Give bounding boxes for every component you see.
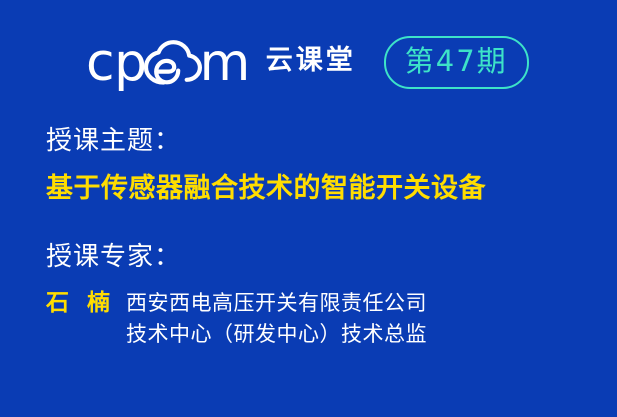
expert-label: 授课专家：: [46, 240, 617, 274]
brand-subtitle: 云课堂: [266, 46, 356, 76]
topic-label: 授课主题：: [46, 124, 486, 158]
cpem-logo: cp m: [86, 38, 250, 86]
course-announcement-poster: cp m 云课堂 第47期 授课主题： 基于传感器融合技术的智能开关设备 授课专: [0, 0, 617, 417]
poster-header: cp m 云课堂 第47期: [0, 34, 617, 90]
expert-row: 石 楠 西安西电高压开关有限责任公司 技术中心（研发中心）技术总监: [46, 288, 617, 350]
expert-affiliation-line-2: 技术中心（研发中心）技术总监: [126, 322, 427, 346]
logo-text-cp: cp: [86, 40, 147, 86]
expert-name: 石 楠: [46, 288, 126, 319]
cloud-e-icon: [143, 40, 203, 86]
expert-block: 授课专家： 石 楠 西安西电高压开关有限责任公司 技术中心（研发中心）技术总监: [46, 240, 617, 350]
topic-title: 基于传感器融合技术的智能开关设备: [46, 172, 486, 206]
episode-badge: 第47期: [384, 36, 529, 89]
logo-text-m: m: [200, 40, 250, 86]
expert-affiliation: 西安西电高压开关有限责任公司 技术中心（研发中心）技术总监: [126, 288, 617, 350]
cpem-brand-lockup: cp m 云课堂 第47期: [86, 34, 529, 90]
topic-block: 授课主题： 基于传感器融合技术的智能开关设备: [46, 124, 486, 206]
expert-affiliation-line-1: 西安西电高压开关有限责任公司: [126, 291, 427, 315]
